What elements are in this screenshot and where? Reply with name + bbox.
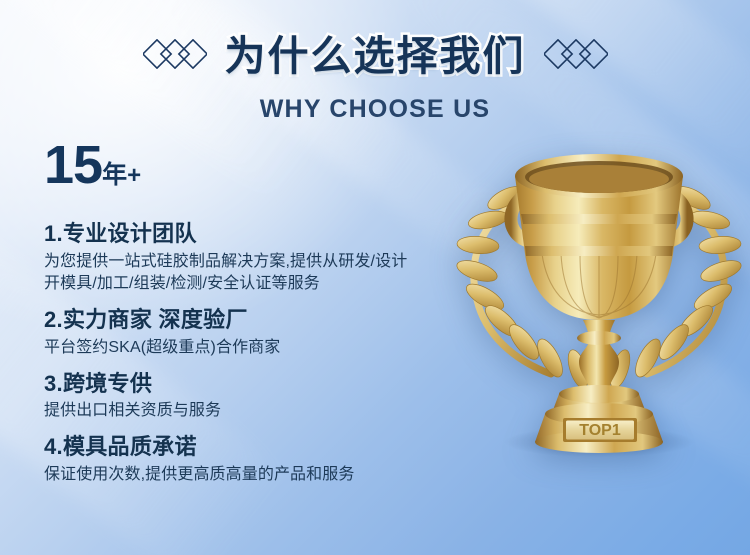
feature-description: 平台签约SKA(超级重点)合作商家: [44, 337, 514, 360]
years-unit: 年: [102, 161, 127, 189]
title-row: 为什么选择我们: [0, 36, 750, 77]
feature-description: 提供出口相关资质与服务: [44, 400, 514, 423]
experience-years-badge: 15年+: [44, 138, 141, 192]
feature-title: 4.模具品质承诺: [44, 432, 514, 462]
list-item: 3.跨境专供 提供出口相关资质与服务: [44, 369, 514, 423]
feature-title: 3.跨境专供: [44, 369, 514, 399]
feature-description: 为您提供一站式硅胶制品解决方案,提供从研发/设计 开模具/加工/组装/检测/安全…: [44, 251, 514, 296]
page-title: 为什么选择我们: [225, 36, 526, 77]
trophy-plaque-label: TOP1: [579, 422, 621, 439]
gold-trophy-icon: TOP1: [447, 142, 747, 462]
feature-title: 1.专业设计团队: [44, 219, 514, 249]
years-plus: +: [127, 162, 141, 189]
list-item: 4.模具品质承诺 保证使用次数,提供更高质高量的产品和服务: [44, 432, 514, 486]
feature-list: 1.专业设计团队 为您提供一站式硅胶制品解决方案,提供从研发/设计 开模具/加工…: [44, 219, 514, 495]
list-item: 1.专业设计团队 为您提供一站式硅胶制品解决方案,提供从研发/设计 开模具/加工…: [44, 219, 514, 296]
triple-diamond-ornament-right-icon: [544, 39, 608, 74]
feature-description: 保证使用次数,提供更高质高量的产品和服务: [44, 464, 514, 487]
feature-title: 2.实力商家 深度验厂: [44, 305, 514, 335]
banner-header: 为什么选择我们 WHY CHOOSE US: [0, 36, 750, 124]
why-choose-us-banner: 为什么选择我们 WHY CHOOSE US 15年+ 1.专业设计团队 为您提供…: [0, 0, 750, 555]
page-subtitle: WHY CHOOSE US: [0, 95, 750, 124]
triple-diamond-ornament-left-icon: [143, 39, 207, 74]
list-item: 2.实力商家 深度验厂 平台签约SKA(超级重点)合作商家: [44, 305, 514, 359]
years-number: 15: [44, 135, 102, 195]
